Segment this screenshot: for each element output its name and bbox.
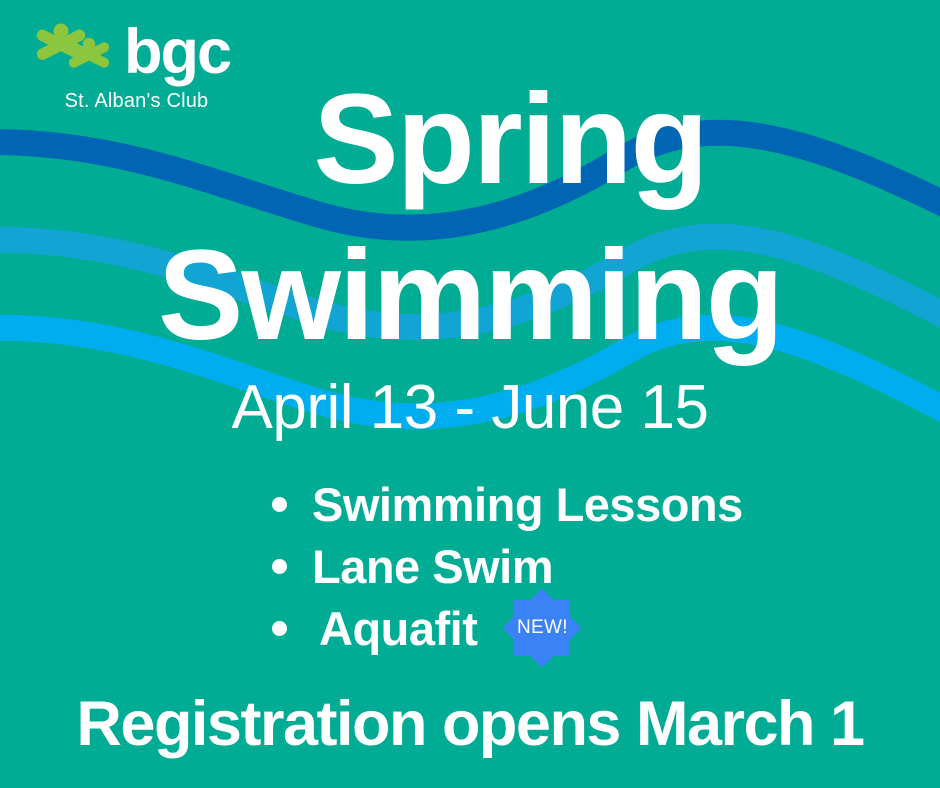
registration-cta-text: Registration opens March 1 [0, 688, 940, 760]
list-item: Swimming Lessons [272, 474, 892, 534]
headline-line-2: Swimming [0, 232, 940, 360]
bullet-dot-icon [272, 621, 287, 636]
badge-label: NEW! [517, 617, 568, 639]
bullet-dot-icon [272, 559, 287, 574]
bullet-dot-icon [272, 497, 287, 512]
date-range: April 13 - June 15 [0, 372, 940, 443]
bgc-people-mark-icon [34, 22, 116, 80]
program-label: Swimming Lessons [312, 477, 743, 532]
logo-row: bgc [34, 22, 254, 80]
headline-line-1: Spring [0, 76, 940, 204]
logo-wordmark: bgc [124, 27, 230, 79]
status-badge: NEW! [503, 589, 581, 667]
program-label: Aquafit [319, 601, 477, 656]
swim-program-poster: bgc St. Alban's Club Spring Swimming Apr… [0, 0, 940, 788]
program-label: Lane Swim [312, 539, 553, 594]
list-item: Aquafit NEW! [272, 598, 892, 658]
list-item: Lane Swim [272, 536, 892, 596]
program-list: Swimming Lessons Lane Swim Aquafit NEW! [272, 474, 892, 660]
